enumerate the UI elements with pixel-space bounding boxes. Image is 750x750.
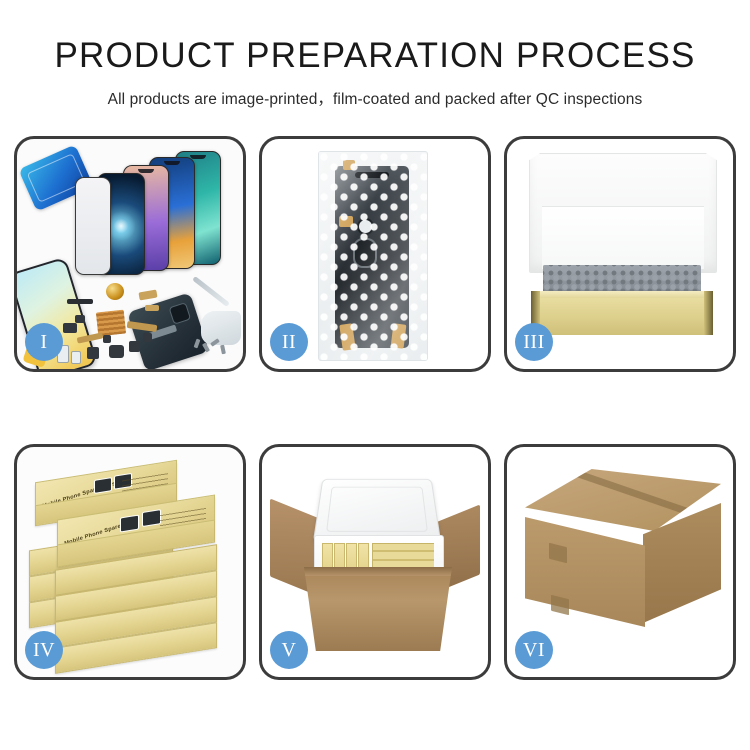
gold-contact-icon xyxy=(138,289,157,300)
phone-display-fan xyxy=(83,151,243,286)
process-step-6: VI xyxy=(504,444,736,680)
process-step-2: II xyxy=(259,136,491,372)
carton-rim-icon xyxy=(304,567,452,576)
screw-icon xyxy=(210,338,220,346)
header: PRODUCT PREPARATION PROCESS All products… xyxy=(0,0,750,109)
step-badge-6: VI xyxy=(515,631,553,669)
carton-body-icon xyxy=(304,567,452,651)
process-step-3: III xyxy=(504,136,736,372)
small-part-icon xyxy=(103,335,111,343)
kraft-box-base-icon xyxy=(531,291,713,335)
phone-glass-protector-icon xyxy=(75,177,111,275)
foam-cooler-lid-icon xyxy=(313,479,441,542)
product-preparation-infographic: PRODUCT PREPARATION PROCESS All products… xyxy=(0,0,750,750)
page-subtitle: All products are image-printed，film-coat… xyxy=(0,87,750,109)
product-window-icon xyxy=(120,515,139,533)
product-window-icon xyxy=(94,477,112,494)
step-badge-5: V xyxy=(270,631,308,669)
speaker-bar-icon xyxy=(67,299,93,304)
process-step-1: I xyxy=(14,136,246,372)
notch-icon xyxy=(164,161,180,165)
step-badge-4: IV xyxy=(25,631,63,669)
small-part-icon xyxy=(129,341,140,352)
screw-icon xyxy=(194,339,201,349)
carton-front-face-icon xyxy=(525,517,645,627)
carton-tape-icon xyxy=(551,595,569,615)
screws-group-icon xyxy=(195,337,229,357)
step-badge-1: I xyxy=(25,323,63,361)
small-part-icon xyxy=(87,347,99,359)
screw-icon xyxy=(220,345,226,355)
white-box-lid-icon xyxy=(529,153,717,273)
small-part-icon xyxy=(143,333,152,342)
box-stack: Mobile Phone Spare Parts Mobile Phone Sp… xyxy=(21,465,241,661)
step-badge-2: II xyxy=(270,323,308,361)
sim-tray-icon xyxy=(71,351,81,364)
small-part-icon xyxy=(109,345,124,358)
gold-contact-icon xyxy=(145,305,159,311)
bubble-wrap-bag xyxy=(318,151,428,361)
product-window-icon xyxy=(142,509,161,527)
process-step-5: V xyxy=(259,444,491,680)
process-step-grid: I II xyxy=(14,136,736,680)
box-lip-icon xyxy=(531,291,713,298)
process-step-4: Mobile Phone Spare Parts Mobile Phone Sp… xyxy=(14,444,246,680)
page-title: PRODUCT PREPARATION PROCESS xyxy=(0,38,750,75)
notch-icon xyxy=(138,169,154,173)
small-part-icon xyxy=(63,323,77,333)
vibration-motor-icon xyxy=(106,283,124,300)
carton-seam-icon xyxy=(552,462,706,521)
notch-icon xyxy=(190,155,206,159)
plastic-sheen xyxy=(319,152,427,360)
box-edge-right-icon xyxy=(704,291,713,335)
screw-icon xyxy=(202,343,210,353)
small-part-icon xyxy=(75,315,85,323)
step-badge-3: III xyxy=(515,323,553,361)
